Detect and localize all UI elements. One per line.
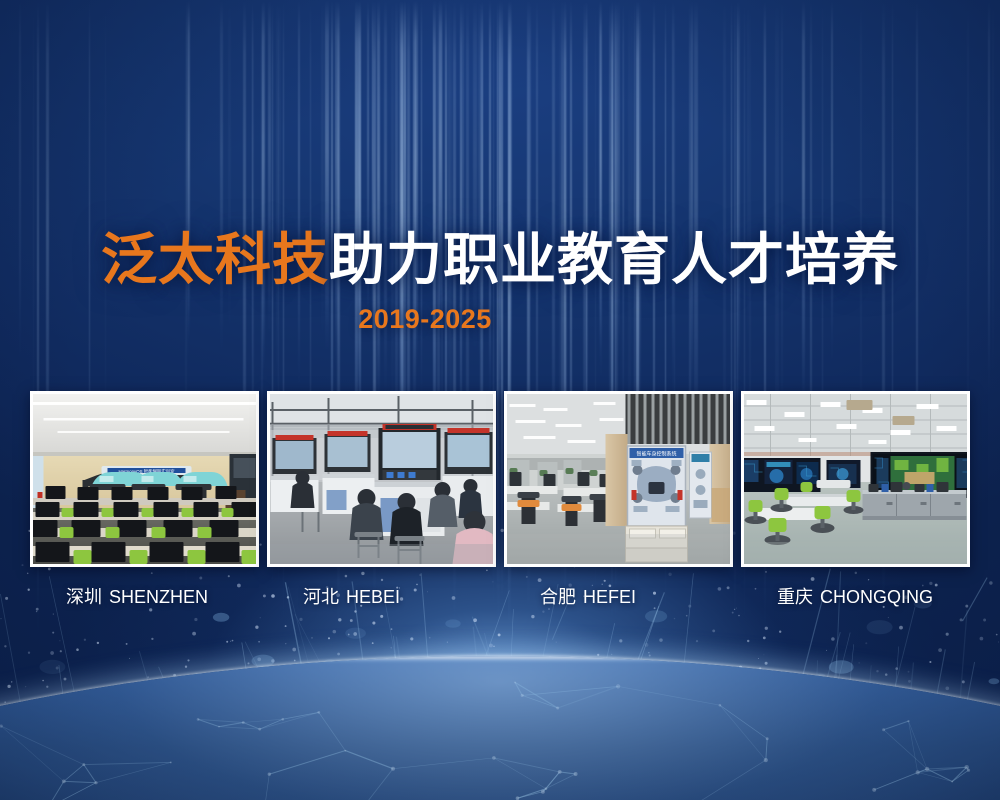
caption-en-hefei: HEFEI	[583, 587, 636, 607]
year-range: 2019-2025	[0, 304, 850, 335]
caption-en-hebei: HEBEI	[346, 587, 400, 607]
title-rest: 助力职业教育人才培养	[329, 228, 899, 291]
title-block: 泛太科技助力职业教育人才培养 2019-2025	[0, 232, 1000, 335]
svg-text:智能车身控制系统: 智能车身控制系统	[636, 451, 676, 458]
caption-cn-chongqing: 重庆	[777, 587, 813, 607]
photo-shenzhen: HarmonyOS 智能网联实训室	[33, 394, 256, 564]
title-highlight: 泛太科技	[101, 228, 329, 291]
photo-chongqing	[744, 394, 967, 564]
caption-en-shenzhen: SHENZHEN	[109, 587, 208, 607]
photo-hefei: 智能车身控制系统	[507, 394, 730, 564]
caption-shenzhen: 深圳SHENZHEN	[30, 585, 259, 613]
caption-cn-shenzhen: 深圳	[66, 587, 102, 607]
caption-cn-hebei: 河北	[303, 587, 339, 607]
caption-cn-hefei: 合肥	[540, 587, 576, 607]
photo-card-chongqing[interactable]	[741, 391, 970, 567]
photo-hebei	[270, 394, 493, 564]
promotional-banner: 泛太科技助力职业教育人才培养 2019-2025	[0, 0, 1000, 800]
caption-hefei: 合肥HEFEI	[504, 585, 733, 613]
caption-row: 深圳SHENZHEN 河北HEBEI 合肥HEFEI 重庆CHONGQING	[30, 585, 970, 613]
page-title: 泛太科技助力职业教育人才培养	[0, 232, 1000, 288]
photo-card-hefei[interactable]: 智能车身控制系统	[504, 391, 733, 567]
photo-gallery: HarmonyOS 智能网联实训室	[30, 391, 970, 567]
caption-chongqing: 重庆CHONGQING	[741, 585, 970, 613]
photo-card-hebei[interactable]	[267, 391, 496, 567]
caption-hebei: 河北HEBEI	[267, 585, 496, 613]
caption-en-chongqing: CHONGQING	[820, 587, 933, 607]
photo-card-shenzhen[interactable]: HarmonyOS 智能网联实训室	[30, 391, 259, 567]
